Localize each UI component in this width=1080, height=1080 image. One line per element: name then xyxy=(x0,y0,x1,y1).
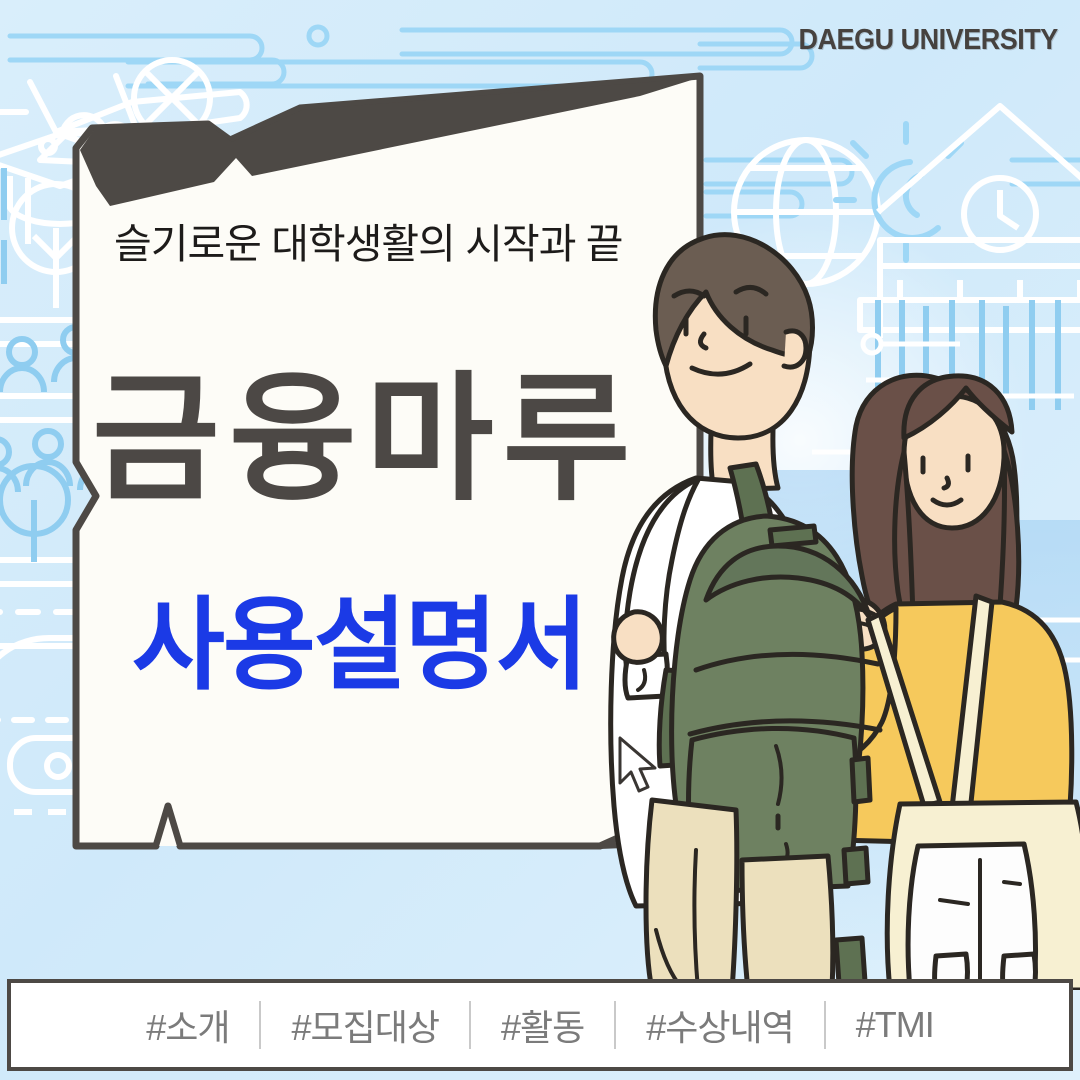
male-student xyxy=(611,235,880,990)
hashtag-bar: #소개 #모집대상 #활동 #수상내역 #TMI xyxy=(7,979,1073,1071)
poster-canvas: DAEGU UNIVERSITY 슬기로운 대학생활의 시작과 끝 금융마루 사… xyxy=(0,0,1080,1080)
poster-title: 금융마루 xyxy=(92,370,640,509)
female-student xyxy=(832,375,1080,990)
students-illustration xyxy=(600,200,1080,990)
tag-activity[interactable]: #활동 xyxy=(471,999,614,1051)
mouse-pointer-icon xyxy=(616,735,662,797)
tag-tmi[interactable]: #TMI xyxy=(826,1004,964,1046)
brand-logo-text: DAEGU UNIVERSITY xyxy=(799,24,1058,57)
poster-subtitle: 슬기로운 대학생활의 시작과 끝 xyxy=(114,210,623,270)
tag-awards[interactable]: #수상내역 xyxy=(616,999,824,1051)
tag-target[interactable]: #모집대상 xyxy=(261,999,469,1051)
poster-subtitle-accent: 사용설명서 xyxy=(132,596,587,697)
tag-intro[interactable]: #소개 xyxy=(116,999,259,1051)
